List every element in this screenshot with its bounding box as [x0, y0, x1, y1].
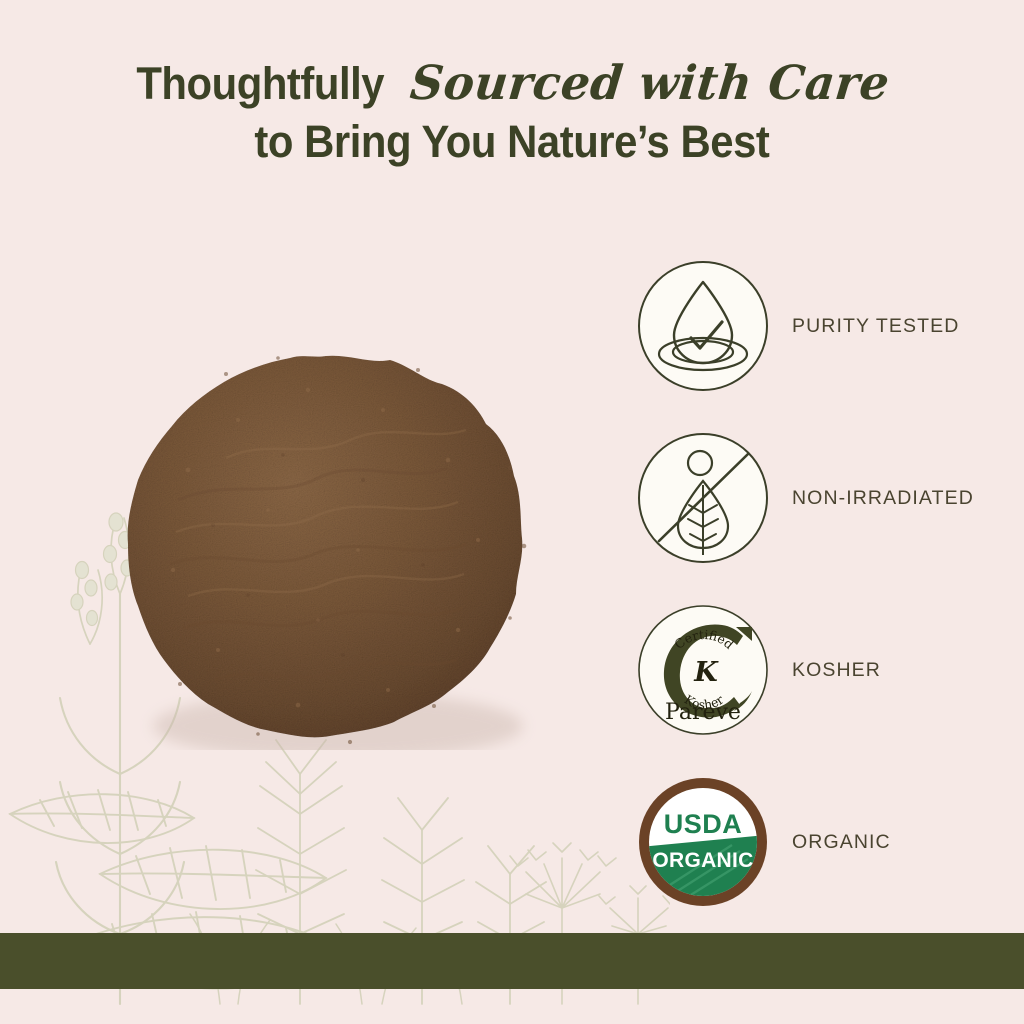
headline-script-text: Sourced with Care: [408, 58, 892, 111]
kosher-pareve-text: Pareve: [665, 700, 741, 725]
water-droplet-check-icon: [636, 259, 770, 393]
badge-label-kosher: KOSHER: [792, 659, 881, 682]
headline-line-2: to Bring You Nature’s Best: [0, 117, 1024, 167]
headline-plain-text: Thoughtfully: [136, 59, 384, 109]
badge-label-organic: ORGANIC: [792, 831, 891, 854]
usda-organic-seal-icon: USDA ORGANIC: [636, 775, 770, 909]
page-title: ThoughtfullySourced with Care to Bring Y…: [0, 58, 1024, 167]
badge-label-non-irradiated: NON-IRRADIATED: [792, 487, 974, 510]
kosher-certified-pareve-icon: Certified K Kosher Pareve: [636, 603, 770, 737]
badge-row-organic: USDA ORGANIC ORGANIC: [636, 756, 1024, 928]
headline-line-1: ThoughtfullySourced with Care: [0, 58, 1024, 111]
certification-badge-list: PURITY TESTED NON-IRRADIATED: [636, 240, 1024, 928]
usda-organic-text: ORGANIC: [652, 849, 753, 872]
badge-row-purity-tested: PURITY TESTED: [636, 240, 1024, 412]
promo-graphic: ThoughtfullySourced with Care to Bring Y…: [0, 0, 1024, 1024]
badge-label-purity-tested: PURITY TESTED: [792, 315, 959, 338]
kosher-k-text: K: [693, 657, 719, 688]
bottom-accent-bar: [0, 933, 1024, 989]
usda-text: USDA: [664, 809, 743, 839]
product-powder-image: [118, 350, 538, 750]
badge-row-non-irradiated: NON-IRRADIATED: [636, 412, 1024, 584]
badge-row-kosher: Certified K Kosher Pareve KOSHER: [636, 584, 1024, 756]
no-irradiation-leaf-icon: [636, 431, 770, 565]
headline-line-2-text: to Bring You Nature’s Best: [255, 117, 770, 167]
